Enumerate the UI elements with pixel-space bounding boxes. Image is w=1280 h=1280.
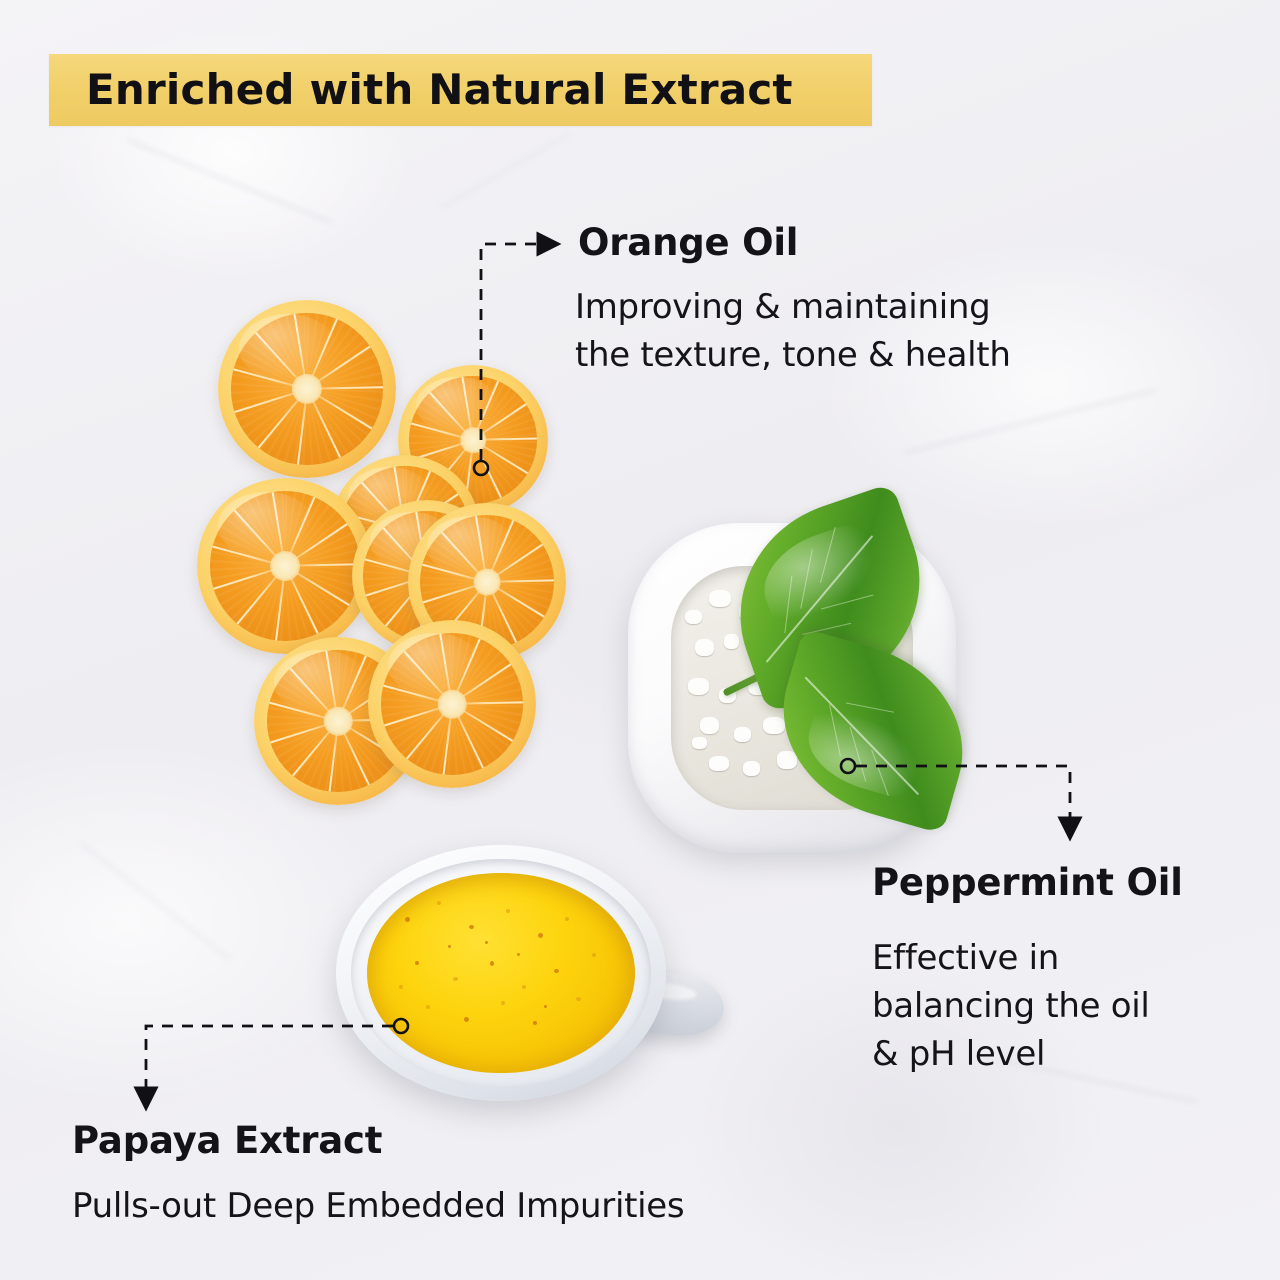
- desc-line: & pH level: [872, 1030, 1150, 1078]
- desc-line: Effective in: [872, 934, 1150, 982]
- orange-slice: [197, 478, 373, 654]
- infographic-canvas: Enriched with Natural Extract: [0, 0, 1280, 1280]
- mug-liquid: [367, 873, 634, 1073]
- desc-line: balancing the oil: [872, 982, 1150, 1030]
- banner-title: Enriched with Natural Extract: [86, 58, 793, 122]
- callout-heading-papaya-extract: Papaya Extract: [72, 1119, 382, 1162]
- callout-heading-peppermint-oil: Peppermint Oil: [872, 861, 1183, 904]
- desc-line: the texture, tone & health: [575, 331, 1011, 379]
- orange-slice: [368, 620, 536, 788]
- salt-bowl-with-mint-leaves-photo: [628, 523, 956, 853]
- desc-line: Improving & maintaining: [575, 283, 1011, 331]
- desc-line: Pulls-out Deep Embedded Impurities: [72, 1182, 684, 1230]
- orange-slice: [218, 300, 396, 478]
- yellow-liquid-mug-photo: [336, 845, 666, 1101]
- callout-heading-orange-oil: Orange Oil: [578, 221, 798, 264]
- callout-desc-peppermint-oil: Effective in balancing the oil & pH leve…: [872, 934, 1150, 1078]
- callout-desc-papaya-extract: Pulls-out Deep Embedded Impurities: [72, 1182, 684, 1230]
- callout-desc-orange-oil: Improving & maintaining the texture, ton…: [575, 283, 1011, 379]
